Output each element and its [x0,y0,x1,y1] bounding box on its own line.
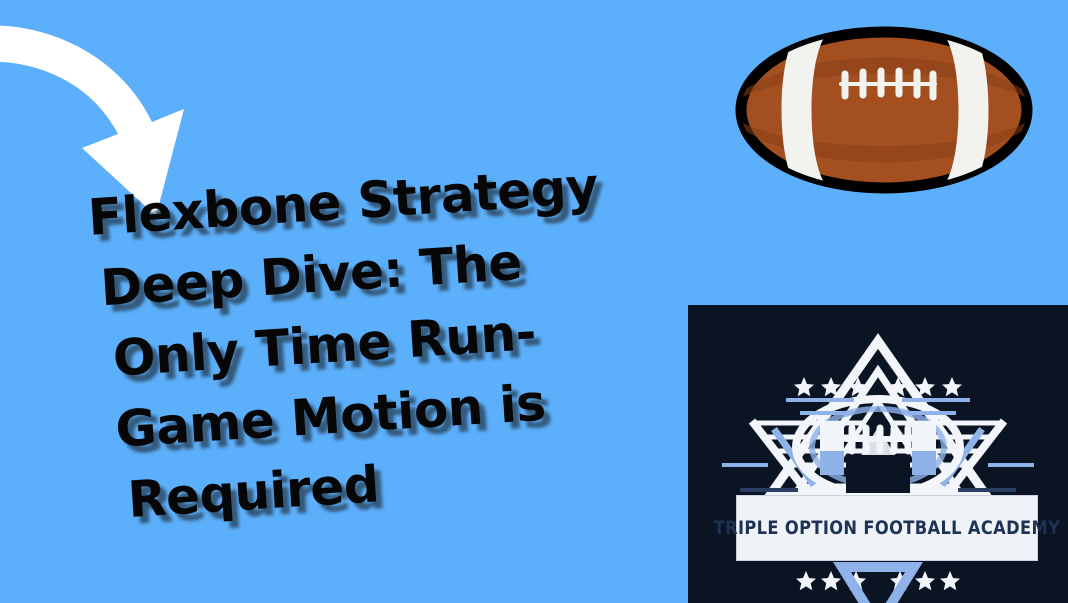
thumbnail-canvas: Flexbone Strategy Deep Dive: The Only Ti… [0,0,1068,603]
academy-banner-text: TRIPLE OPTION FOOTBALL ACADEMY [714,518,1061,539]
american-football-icon [733,22,1035,198]
academy-banner: TRIPLE OPTION FOOTBALL ACADEMY [736,495,1038,561]
star-group-top-right [888,377,962,396]
star-group-top-left [794,377,868,396]
page-title: Flexbone Strategy Deep Dive: The Only Ti… [86,150,627,537]
chevron-down-icon [842,567,914,603]
academy-logo-card: TRIPLE OPTION FOOTBALL ACADEMY [688,305,1068,603]
